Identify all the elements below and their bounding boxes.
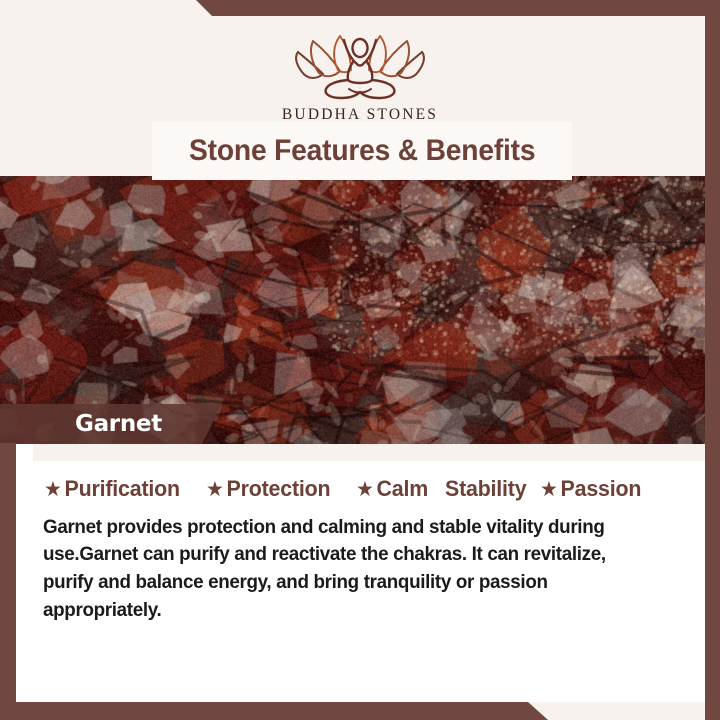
benefit-item: ★Passion	[540, 478, 641, 501]
benefit-label: Stability	[445, 478, 526, 501]
benefit-item: ★Calm	[356, 478, 428, 501]
lotus-meditation-icon	[285, 26, 435, 104]
garnet-crystal-cluster-photo	[0, 176, 720, 444]
benefit-label: Purification	[65, 478, 180, 501]
page-title-plaque: Stone Features & Benefits	[152, 122, 572, 180]
stone-description: Garnet provides protection and calming a…	[16, 501, 653, 625]
benefit-item: Stability	[445, 478, 526, 501]
stone-info-card: BUDDHA STONES Stone Features & Benefits …	[0, 0, 720, 720]
stone-photo	[0, 176, 720, 444]
star-icon: ★	[356, 479, 374, 500]
star-icon: ★	[44, 479, 62, 500]
benefit-label: Protection	[227, 478, 331, 501]
benefits-row: ★Purification★Protection★CalmStability★P…	[16, 461, 705, 501]
benefit-item: ★Purification	[44, 478, 180, 501]
benefit-label: Calm	[376, 478, 428, 501]
content-top-band	[33, 444, 705, 461]
frame-right-bar	[705, 0, 720, 720]
brand-logo: BUDDHA STONES	[0, 26, 720, 124]
frame-left-bar	[0, 443, 16, 720]
star-icon: ★	[540, 479, 558, 500]
star-icon: ★	[206, 479, 224, 500]
benefit-item: ★Protection	[206, 478, 330, 501]
stone-name-banner: Garnet	[0, 404, 222, 444]
frame-bottom-bar	[0, 702, 720, 720]
frame-top-bar	[0, 0, 720, 16]
stone-name: Garnet	[0, 411, 162, 437]
content-panel: ★Purification★Protection★CalmStability★P…	[16, 444, 705, 702]
benefit-label: Passion	[560, 478, 641, 501]
page-title: Stone Features & Benefits	[189, 134, 535, 168]
